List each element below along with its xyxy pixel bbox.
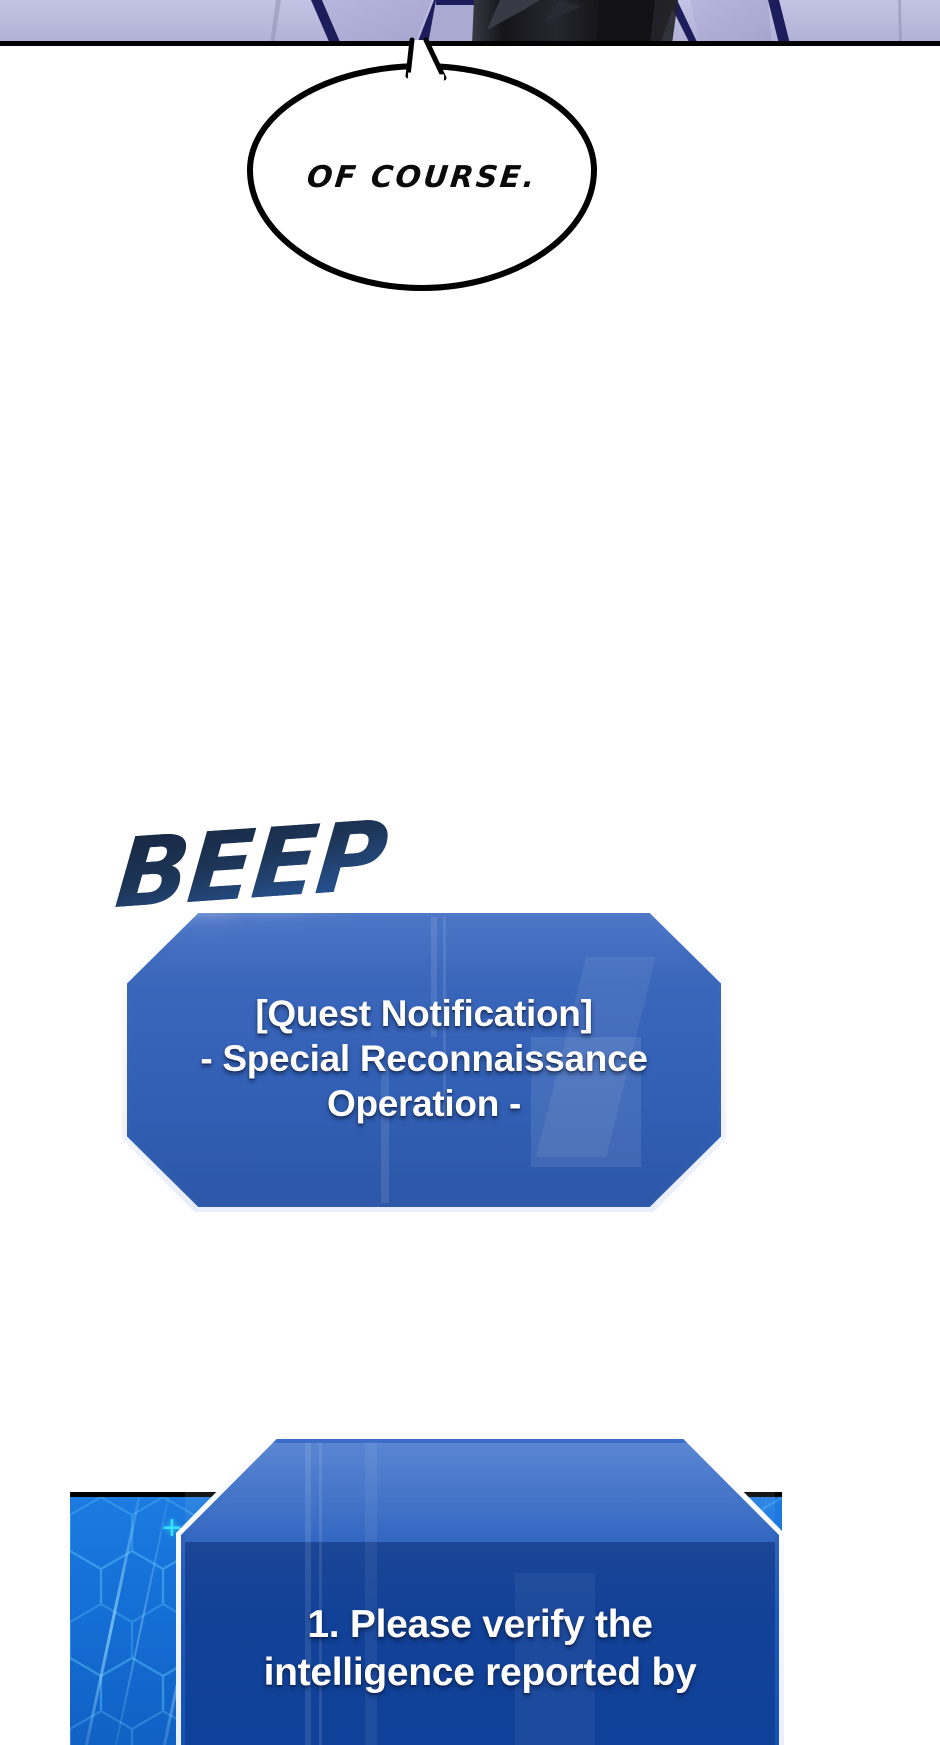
- beep-sfx-outline: BEEP: [112, 808, 389, 922]
- quest-box-1-line-2: - Special Reconnaissance: [122, 1037, 726, 1081]
- quest-objective-box: 1. Please verify the intelligence report…: [176, 1434, 784, 1745]
- panel-shapes: [0, 0, 940, 46]
- quest-box-2-line-2: intelligence reported by: [176, 1650, 784, 1697]
- speech-bubble: OF COURSE.: [236, 52, 608, 302]
- upper-panel-crop: [0, 0, 940, 46]
- quest-box-2-inner-fill: [185, 1443, 775, 1745]
- speech-bubble-text: OF COURSE.: [234, 160, 610, 195]
- quest-box-2-line-1: 1. Please verify the: [176, 1602, 784, 1649]
- quest-box-1-line-1: [Quest Notification]: [122, 992, 726, 1036]
- panel-bottom-border: [0, 41, 940, 46]
- quest-notification-box: [Quest Notification] - Special Reconnais…: [122, 908, 726, 1212]
- webtoon-page: OF COURSE. BEEP BEEP [Quest Notification…: [0, 0, 940, 1745]
- quest-box-1-line-3: Operation -: [122, 1082, 726, 1126]
